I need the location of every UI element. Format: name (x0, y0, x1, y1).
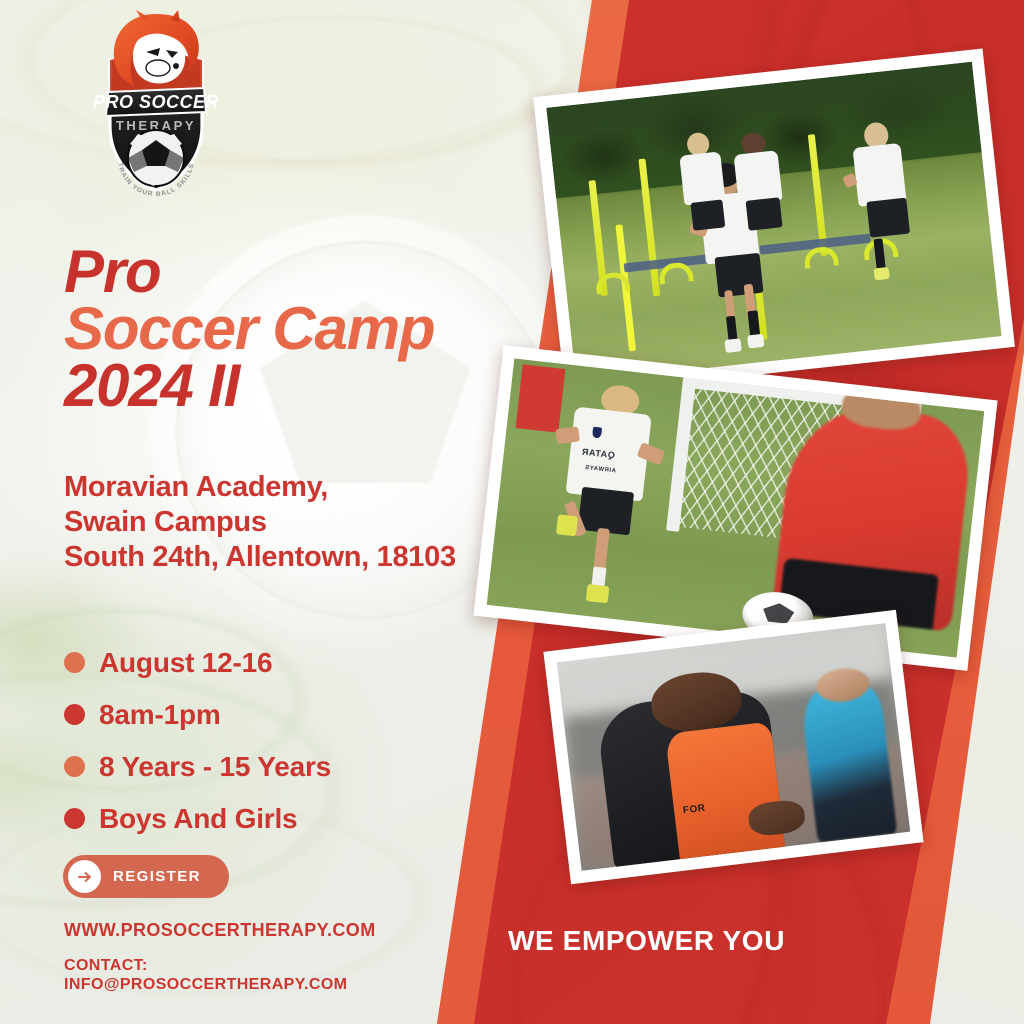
page-title: Pro Soccer Camp 2024 II (64, 243, 534, 414)
soccer-ball-icon (128, 130, 184, 186)
bullet-dot-icon (64, 704, 85, 725)
contact-email[interactable]: INFO@PROSOCCERTHERAPY.COM (64, 975, 376, 994)
list-item: August 12-16 (64, 640, 464, 685)
website-link[interactable]: WWW.PROSOCCERTHERAPY.COM (64, 920, 376, 941)
photo-agility-drill (533, 48, 1015, 395)
tagline: WE EMPOWER YOU (508, 925, 785, 957)
address-line-2: Swain Campus (64, 505, 504, 540)
list-item: Boys And Girls (64, 796, 464, 841)
poster-canvas: PRO SOCCER THERAPY TRAIN YOUR BALL SKILL… (0, 0, 1024, 1024)
detail-dates: August 12-16 (99, 647, 272, 679)
contact-label: CONTACT: (64, 956, 376, 975)
bullet-dot-icon (64, 808, 85, 829)
photo-shooting-drill: QATAR AIRWAYS (473, 345, 997, 671)
arrow-right-icon (68, 860, 101, 893)
address-line-3: South 24th, Allentown, 18103 (64, 540, 504, 575)
logo-primary-text: PRO SOCCER (93, 92, 219, 112)
bib-text: FOR (682, 803, 706, 817)
camp-details-list: August 12-16 8am-1pm 8 Years - 15 Years … (64, 640, 464, 848)
list-item: 8 Years - 15 Years (64, 744, 464, 789)
detail-gender: Boys And Girls (99, 803, 297, 835)
list-item: 8am-1pm (64, 692, 464, 737)
bullet-dot-icon (64, 756, 85, 777)
address-line-1: Moravian Academy, (64, 470, 504, 505)
photo-coach-portrait: FOR (543, 610, 923, 884)
title-line-2: Soccer Camp (64, 300, 534, 357)
register-button-label: REGISTER (113, 868, 201, 885)
venue-address: Moravian Academy, Swain Campus South 24t… (64, 470, 504, 575)
register-button[interactable]: REGISTER (63, 855, 229, 898)
detail-age-range: 8 Years - 15 Years (99, 751, 331, 783)
contact-block: WWW.PROSOCCERTHERAPY.COM CONTACT: INFO@P… (64, 920, 376, 994)
detail-hours: 8am-1pm (99, 699, 221, 731)
title-line-3: 2024 II (64, 357, 534, 414)
brand-logo: PRO SOCCER THERAPY TRAIN YOUR BALL SKILL… (88, 8, 224, 198)
bullet-dot-icon (64, 652, 85, 673)
title-line-1: Pro (64, 243, 534, 300)
